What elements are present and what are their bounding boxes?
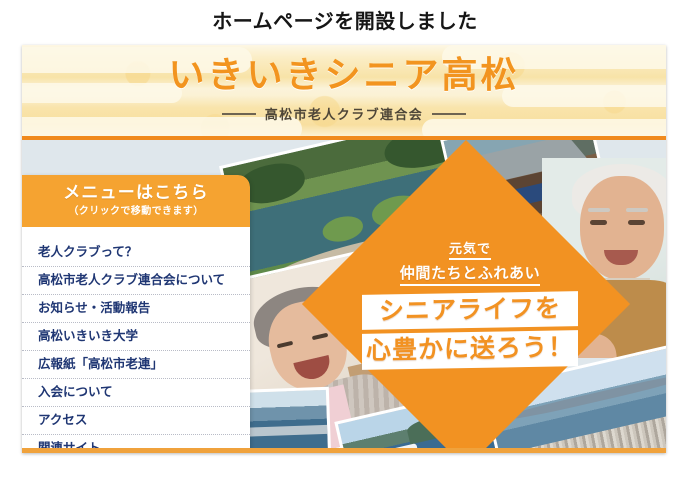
catchcopy-line-4: 心豊かに送ろう！	[362, 332, 578, 366]
menu-subheading: （クリックで移動できます）	[22, 205, 250, 219]
rule-right-icon	[432, 113, 466, 115]
logo-subtitle-text: 高松市老人クラブ連合会	[265, 104, 423, 123]
logo-main-text: いきいきシニア高松	[22, 53, 666, 99]
menu-list: 老人クラブって？ 高松市老人クラブ連合会について お知らせ・活動報告 高松いきい…	[22, 227, 250, 453]
catchcopy-band-1: シニアライフを	[362, 291, 578, 330]
banner-logo: いきいきシニア高松 高松市老人クラブ連合会	[22, 53, 666, 123]
menu-item-news-reports[interactable]: お知らせ・活動報告	[22, 295, 250, 323]
menu-panel[interactable]: メニューはこちら （クリックで移動できます） 老人クラブって？ 高松市老人クラブ…	[22, 175, 250, 453]
menu-panel-header: メニューはこちら （クリックで移動できます）	[22, 175, 250, 227]
menu-item-ikiiki-university[interactable]: 高松いきいき大学	[22, 323, 250, 351]
logo-subtitle-row: 高松市老人クラブ連合会	[22, 104, 666, 123]
menu-item-membership[interactable]: 入会について	[22, 379, 250, 407]
menu-item-newsletter[interactable]: 広報紙「高松市老連」	[22, 351, 250, 379]
man-brow	[588, 208, 610, 212]
menu-heading: メニューはこちら	[22, 182, 250, 204]
banner-bottom-rule	[22, 448, 666, 453]
man-eye	[590, 220, 607, 225]
banner-photo-collage: 元気で 仲間たちとふれあい シニアライフを 心豊かに送ろう！	[22, 140, 666, 453]
catchcopy-line-2: 仲間たちとふれあい	[400, 265, 540, 286]
rule-left-icon	[222, 113, 256, 115]
menu-item-access[interactable]: アクセス	[22, 407, 250, 435]
menu-item-about-club[interactable]: 老人クラブって？	[22, 239, 250, 267]
man-eye	[628, 220, 645, 225]
menu-item-federation[interactable]: 高松市老人クラブ連合会について	[22, 267, 250, 295]
catchcopy-line-3: シニアライフを	[362, 293, 578, 327]
catchcopy-text: 元気で 仲間たちとふれあい シニアライフを 心豊かに送ろう！	[362, 240, 578, 368]
man-brow	[626, 208, 648, 212]
page-title: ホームページを開設しました	[0, 0, 690, 44]
catchcopy-band-2: 心豊かに送ろう！	[362, 330, 578, 370]
site-banner[interactable]: いきいきシニア高松 高松市老人クラブ連合会	[22, 45, 666, 453]
catchcopy-line-1: 元気で	[449, 241, 491, 260]
garden-shrub	[320, 212, 366, 245]
